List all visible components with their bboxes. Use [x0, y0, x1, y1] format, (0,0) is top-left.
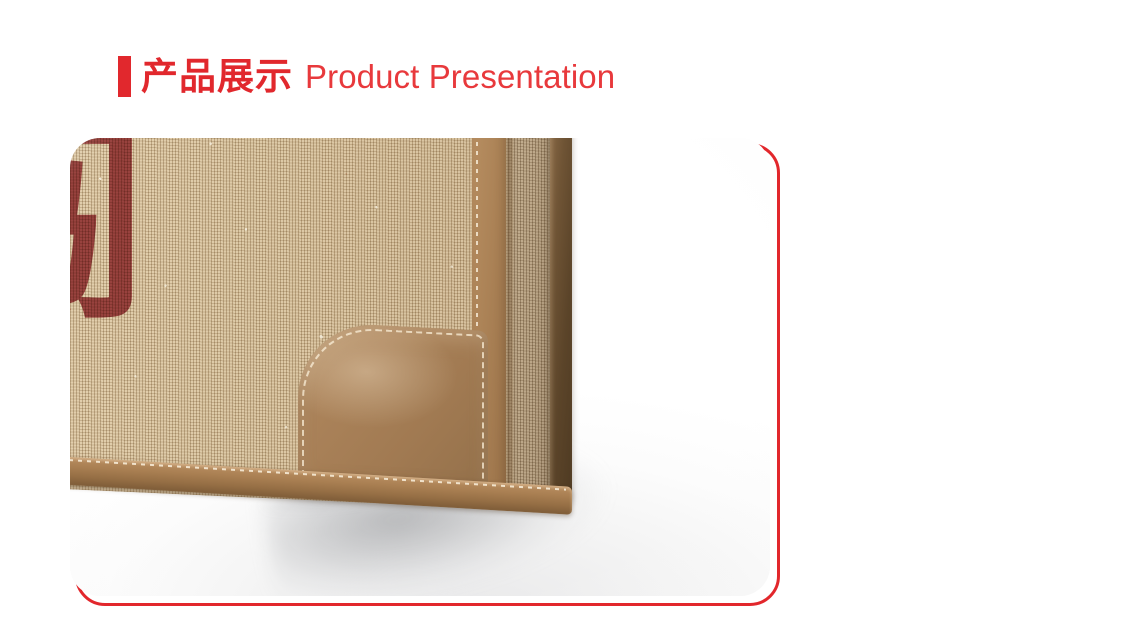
heading-accent-bar: [118, 56, 131, 97]
page-title-en: Product Presentation: [305, 60, 615, 93]
product-photo-block: 闯: [70, 138, 780, 606]
calligraphy-print: 闯: [70, 138, 162, 346]
section-heading: 产品展示 Product Presentation: [118, 50, 615, 102]
page-title-cn: 产品展示: [141, 58, 293, 95]
product-photo[interactable]: 闯: [70, 138, 770, 596]
bag-leather-spine: [550, 138, 572, 509]
bag-side-panel: [508, 138, 556, 504]
product-presentation-page: 产品展示 Product Presentation 闯: [0, 0, 1140, 617]
product-bag: 闯: [70, 138, 610, 516]
